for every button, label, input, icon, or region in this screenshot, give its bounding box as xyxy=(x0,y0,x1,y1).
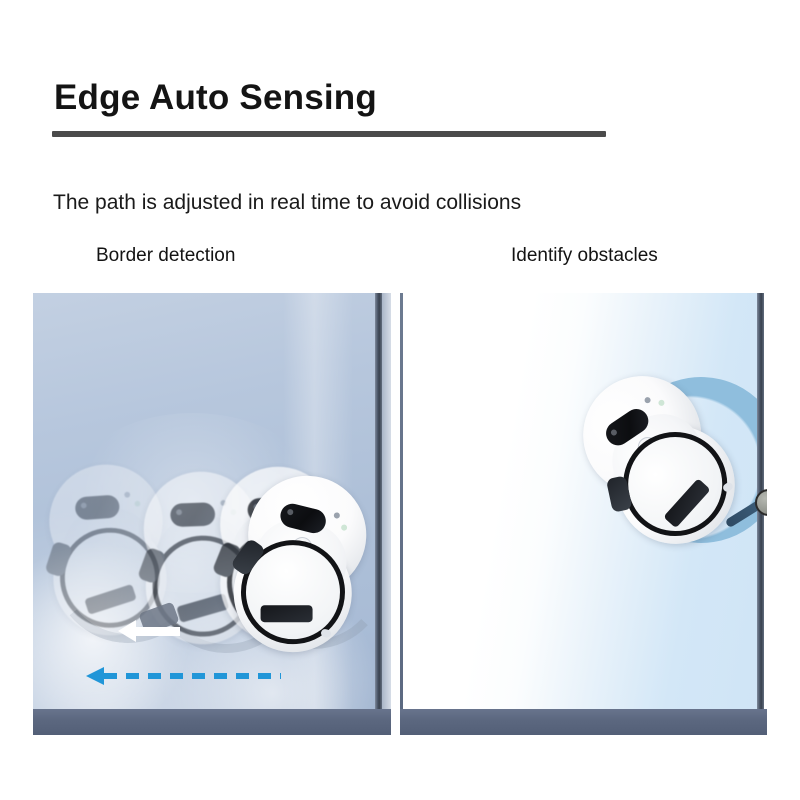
arrow-head xyxy=(118,620,136,642)
sensor-window xyxy=(74,494,120,520)
panel-identify-obstacles: ⏻ xyxy=(400,293,767,735)
motion-arrow-left-icon xyxy=(118,620,180,642)
squeegee-blade xyxy=(261,605,313,622)
path-arrow-left-icon xyxy=(86,667,281,685)
panel-border-detection: ⏻ xyxy=(33,293,391,735)
window-frame-pane xyxy=(382,293,391,735)
page-subtitle: The path is adjusted in real time to avo… xyxy=(53,191,521,215)
caption-border-detection: Border detection xyxy=(96,245,235,267)
title-divider-rule xyxy=(52,131,606,137)
arrow-dashed-line xyxy=(104,673,281,679)
caption-identify-obstacles: Identify obstacles xyxy=(511,245,658,267)
arrow-shaft xyxy=(134,627,180,636)
panel-left-border xyxy=(400,293,403,735)
window-sill xyxy=(33,709,391,735)
sensor-window xyxy=(170,502,215,527)
page-title: Edge Auto Sensing xyxy=(54,79,377,118)
window-sill xyxy=(400,709,767,735)
window-frame-bar xyxy=(375,293,382,735)
arrow-head xyxy=(86,667,104,685)
